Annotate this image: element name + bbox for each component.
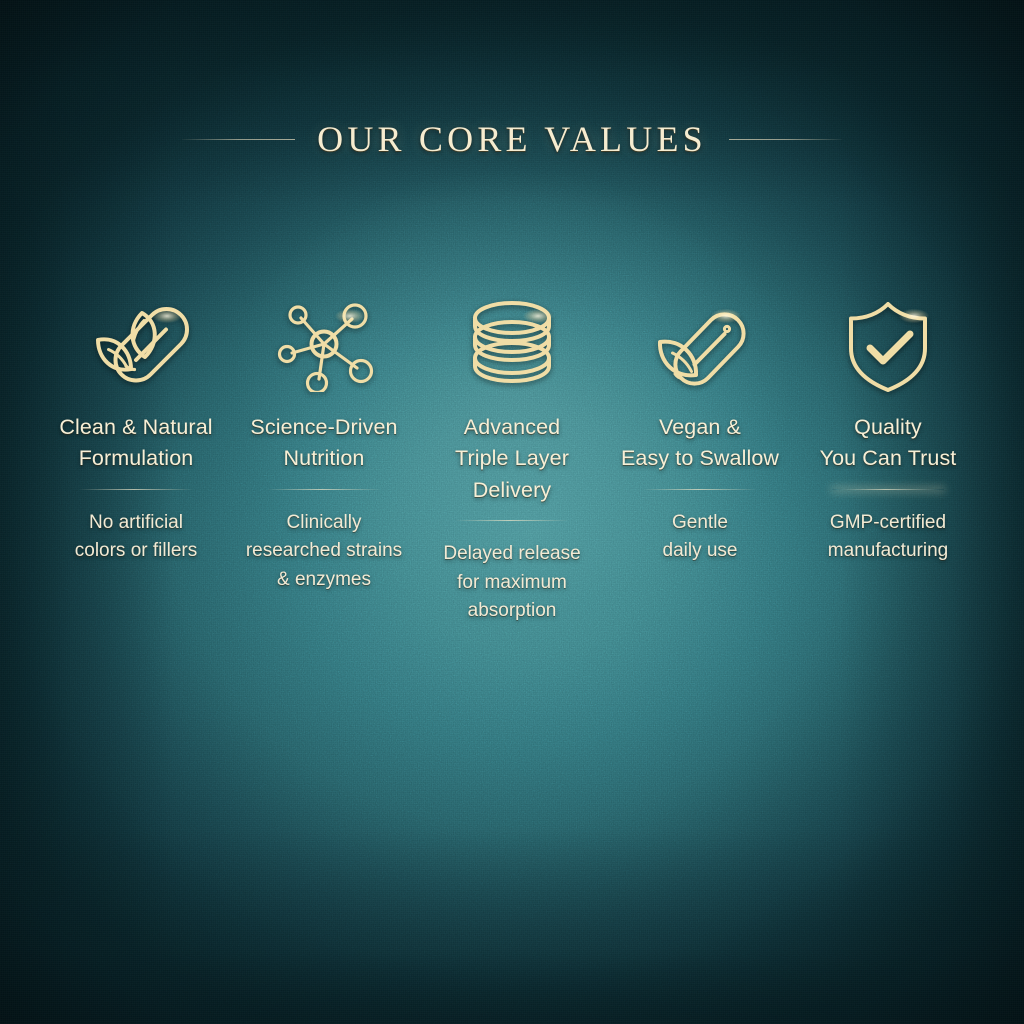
value-divider <box>644 489 756 490</box>
value-item-science-driven: Science-DrivenNutrition Clinicallyresear… <box>230 296 418 594</box>
title-rule-left <box>182 139 295 140</box>
value-divider <box>268 489 380 490</box>
value-title: Science-DrivenNutrition <box>250 412 397 475</box>
value-item-quality: QualityYou Can Trust GMP-certifiedmanufa… <box>794 296 982 566</box>
core-values-list: Clean & NaturalFormulation No artificial… <box>42 296 982 626</box>
value-description: Delayed releasefor maximumabsorption <box>443 540 580 626</box>
value-description: Gentledaily use <box>663 509 738 566</box>
value-title: Vegan &Easy to Swallow <box>621 412 779 475</box>
stacked-layers-icon <box>457 296 567 392</box>
title-rule-right <box>729 139 842 140</box>
value-divider <box>456 520 568 521</box>
leaf-capsule-icon <box>76 296 196 392</box>
value-divider <box>832 489 944 490</box>
value-description: Clinicallyresearched strains& enzymes <box>246 509 402 595</box>
value-title: Clean & NaturalFormulation <box>59 412 212 475</box>
leaf-capsule-vegan-icon <box>645 296 755 392</box>
core-values-banner: OUR CORE VALUES <box>0 0 1024 1024</box>
value-item-vegan: Vegan &Easy to Swallow Gentledaily use <box>606 296 794 566</box>
shield-check-icon <box>833 296 943 392</box>
value-item-triple-layer: AdvancedTriple LayerDelivery Delayed rel… <box>418 296 606 626</box>
page-title: OUR CORE VALUES <box>317 118 707 160</box>
molecule-network-icon <box>269 296 379 392</box>
section-header: OUR CORE VALUES <box>0 118 1024 160</box>
value-title: AdvancedTriple LayerDelivery <box>455 412 569 506</box>
value-divider <box>80 489 192 490</box>
value-description: No artificialcolors or fillers <box>75 509 197 566</box>
value-item-clean-natural: Clean & NaturalFormulation No artificial… <box>42 296 230 566</box>
value-title: QualityYou Can Trust <box>820 412 957 475</box>
value-description: GMP-certifiedmanufacturing <box>828 509 948 566</box>
